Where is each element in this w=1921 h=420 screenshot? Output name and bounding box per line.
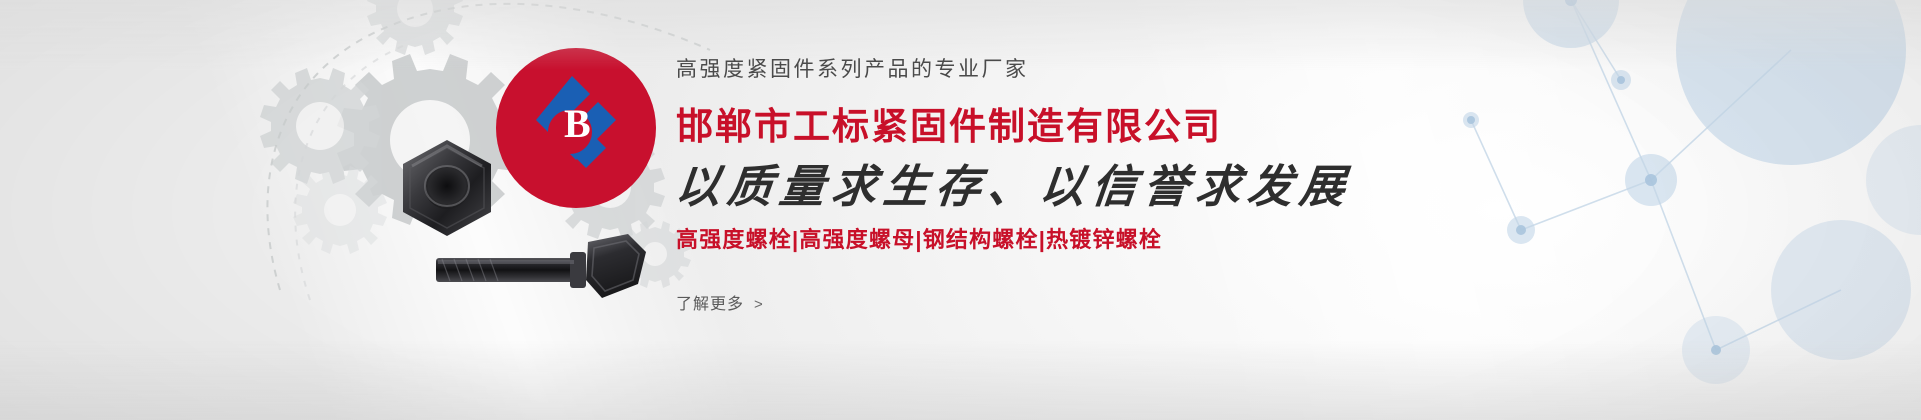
hero-banner: B 高	[0, 0, 1921, 420]
chevron-right-icon: >	[754, 296, 764, 313]
company-name-headline: 邯郸市工标紧固件制造有限公司	[676, 96, 1222, 150]
product-keywords: 高强度螺栓|高强度螺母|钢结构螺栓|热镀锌螺栓	[676, 222, 1162, 254]
learn-more-link[interactable]: 了解更多>	[676, 290, 764, 314]
banner-text-block: 高强度紧固件系列产品的专业厂家 邯郸市工标紧固件制造有限公司 以质量求生存、以信…	[676, 0, 1496, 420]
banner-tagline: 高强度紧固件系列产品的专业厂家	[676, 53, 1029, 83]
banner-slogan-calligraphy: 以质量求生存、以信誉求发展	[673, 150, 1356, 215]
learn-more-label: 了解更多	[676, 296, 744, 313]
